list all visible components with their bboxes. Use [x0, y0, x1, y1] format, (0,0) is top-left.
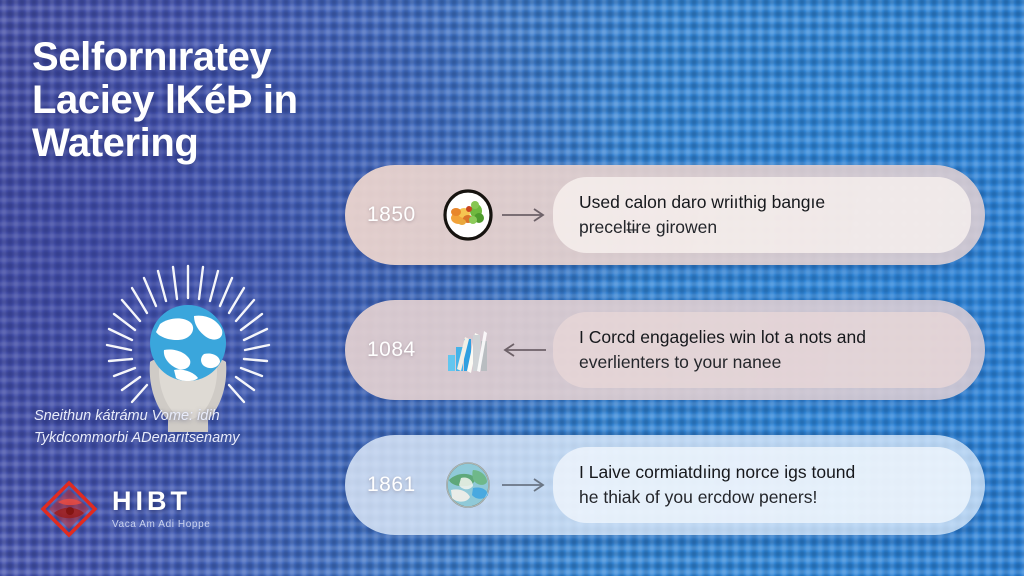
- red-diamond-logo-icon: [40, 480, 98, 538]
- poster-canvas: Selfornıratey Laciey lKéÞ in Watering: [0, 0, 1024, 576]
- headline-line-1: Selfornıratey: [32, 36, 342, 79]
- timeline-text-line: everlienters to your nanee: [579, 350, 945, 375]
- timeline-text-line: precelt̶ire girowen: [579, 215, 945, 240]
- timeline-row[interactable]: 1861 I Laive cormiatdı: [345, 435, 985, 535]
- timeline-year: 1861: [367, 473, 441, 497]
- timeline-text-bubble: I Corcd engagelies win lot a nots and ev…: [553, 312, 971, 388]
- arrow-right-icon: [495, 206, 553, 224]
- page-title: Selfornıratey Laciey lKéÞ in Watering: [32, 36, 342, 166]
- timeline-row[interactable]: 1850: [345, 165, 985, 265]
- timeline-year: 1084: [367, 338, 441, 362]
- timeline-text-line: he thiak of you ercdow peners!: [579, 485, 945, 510]
- brand-name: HIBT: [112, 488, 210, 515]
- timeline-list: 1850: [345, 165, 990, 570]
- arrow-right-icon: [495, 476, 553, 494]
- timeline-text-bubble: I Laive cormiatdıing norce igs tound he …: [553, 447, 971, 523]
- brand-tagline: Vaca Am Adi Hoppe: [112, 519, 210, 530]
- bar-chart-icon: [441, 323, 495, 377]
- left-column: Selfornıratey Laciey lKéÞ in Watering: [0, 0, 345, 576]
- headline-line-2: Laciey lKéÞ in: [32, 79, 342, 122]
- timeline-text-line: I Laive cormiatdıing norce igs tound: [579, 460, 945, 485]
- subtitle-line-1: Sneithun kátrámu Vome: idih: [34, 406, 334, 428]
- brand-logo-text: HIBT Vaca Am Adi Hoppe: [112, 488, 210, 530]
- headline-line-3: Watering: [32, 122, 342, 165]
- subtitle-line-2: Tykdcommorbi ADenarıtsenamy: [34, 428, 334, 450]
- salad-food-circle-icon: [441, 188, 495, 242]
- globe-earth-circle-icon: [441, 458, 495, 512]
- timeline-text-line: Used calon daro wriıthig bangıe: [579, 190, 945, 215]
- timeline-text-bubble: Used calon daro wriıthig bangıe precelt̶…: [553, 177, 971, 253]
- subtitle-text: Sneithun kátrámu Vome: idih Tykdcommorbi…: [34, 406, 334, 450]
- brand-logo: HIBT Vaca Am Adi Hoppe: [40, 480, 210, 538]
- arrow-left-icon: [495, 341, 553, 359]
- timeline-text-line: I Corcd engagelies win lot a nots and: [579, 325, 945, 350]
- timeline-year: 1850: [367, 203, 441, 227]
- timeline-row[interactable]: 1084 I Corc: [345, 300, 985, 400]
